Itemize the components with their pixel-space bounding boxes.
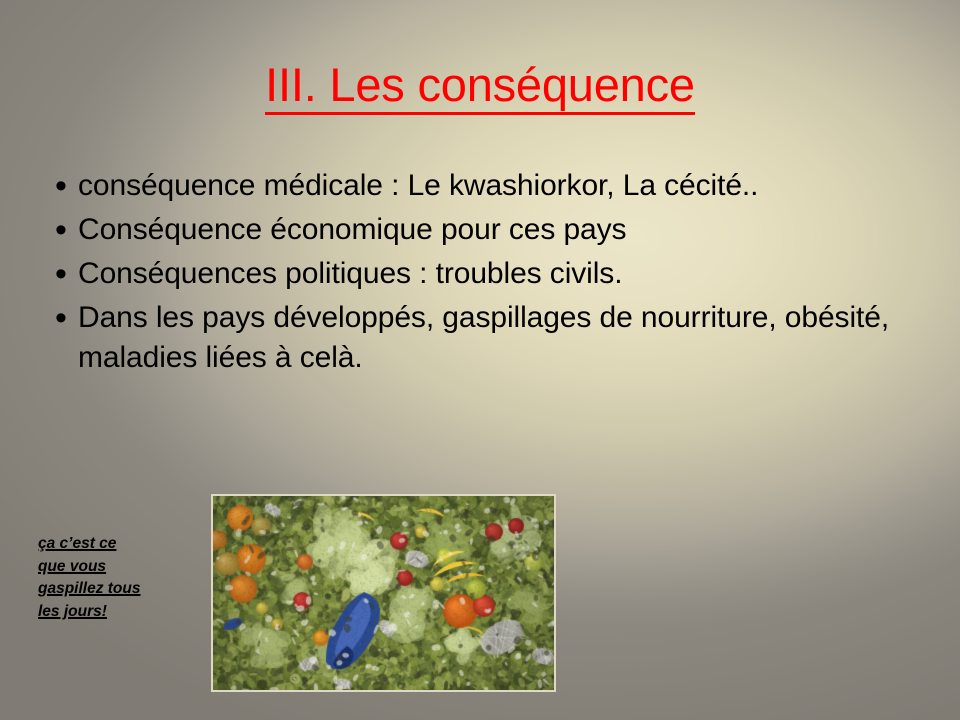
page-title-text: III. Les conséquence [265,60,695,115]
image-caption-line-3: gaspillez tous [38,580,141,597]
slide-canvas: III. Les conséquence • conséquence médic… [0,0,960,720]
list-item: • conséquence médicale : Le kwashiorkor,… [48,166,908,206]
list-item-text: Dans les pays développés, gaspillages de… [78,298,908,378]
list-item: • Conséquences politiques : troubles civ… [48,254,908,294]
list-item-text: Conséquence économique pour ces pays [78,210,908,250]
bullet-dot-icon: • [48,210,78,250]
food-waste-photo [211,494,556,692]
bullet-list: • conséquence médicale : Le kwashiorkor,… [48,166,908,382]
list-item: • Dans les pays développés, gaspillages … [48,298,908,378]
image-caption: ça c’est ce que vous gaspillez tous les … [38,533,188,623]
list-item-text: conséquence médicale : Le kwashiorkor, L… [78,166,908,206]
image-caption-line-4: les jours! [38,603,107,620]
list-item-text: Conséquences politiques : troubles civil… [78,254,908,294]
bullet-dot-icon: • [48,254,78,294]
list-item: • Conséquence économique pour ces pays [48,210,908,250]
food-waste-photo-canvas [213,496,554,690]
image-caption-line-2: que vous [38,558,106,575]
page-title: III. Les conséquence [0,60,960,115]
image-caption-line-1: ça c’est ce [38,535,116,552]
bullet-dot-icon: • [48,298,78,338]
bullet-dot-icon: • [48,166,78,206]
